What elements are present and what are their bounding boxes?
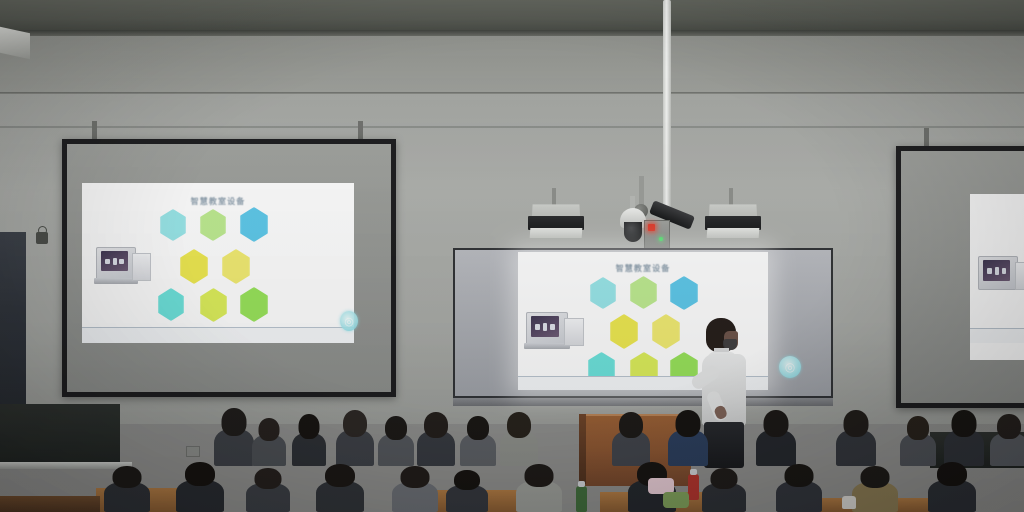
audience-person — [836, 408, 876, 466]
audience-person-head — [861, 466, 890, 488]
audience-person-head — [325, 464, 355, 487]
audience-person-head — [385, 416, 407, 440]
water-bottle — [688, 474, 699, 500]
audience-person — [516, 462, 562, 512]
audience-person-head — [259, 418, 280, 441]
audience-person — [500, 410, 538, 466]
audience-person — [702, 466, 746, 512]
audience-person — [668, 408, 708, 466]
audience-person-head — [255, 468, 282, 489]
audience-person — [316, 462, 364, 512]
audience-person-head — [222, 408, 247, 436]
audience-person-head — [676, 410, 701, 437]
audience-person — [176, 460, 224, 512]
bottle-cap — [690, 469, 697, 475]
audience-person — [417, 410, 455, 466]
audience-person-head — [997, 414, 1021, 439]
audience-person-head — [424, 412, 448, 438]
audience-person — [378, 414, 414, 466]
audience-person-head — [764, 410, 789, 437]
audience-person-head — [467, 416, 489, 440]
audience-person-head — [711, 468, 738, 489]
audience-person — [900, 414, 936, 466]
audience-person — [990, 412, 1024, 466]
audience-person-head — [844, 410, 869, 437]
audience-person — [292, 412, 326, 466]
audience-person-head — [785, 464, 814, 487]
audience-person — [928, 460, 976, 512]
audience-person-head — [952, 410, 977, 437]
audience-person-head — [454, 470, 480, 490]
audience-person-head — [299, 414, 320, 439]
audience-person-head — [507, 412, 531, 438]
audience — [0, 0, 1024, 512]
audience-person-head — [343, 410, 367, 437]
audience-person — [214, 406, 254, 466]
bottle-cap — [578, 481, 585, 487]
cup — [842, 496, 856, 509]
audience-person — [776, 462, 822, 512]
audience-person — [460, 414, 496, 466]
audience-person — [104, 464, 150, 512]
audience-person-head — [401, 466, 430, 488]
audience-person — [392, 464, 438, 512]
audience-person-head — [185, 462, 215, 486]
audience-person-head — [907, 416, 929, 440]
audience-person — [944, 408, 984, 466]
audience-person-head — [937, 462, 967, 486]
audience-person — [852, 464, 898, 512]
water-bottle — [576, 486, 587, 512]
audience-person-head — [619, 412, 643, 438]
audience-person — [612, 410, 650, 466]
classroom-scene: 智慧教室设备 — [0, 0, 1024, 512]
bag — [663, 492, 689, 508]
audience-person — [246, 466, 290, 512]
audience-person — [336, 408, 374, 466]
audience-person — [252, 416, 286, 466]
audience-person — [446, 468, 488, 512]
audience-person — [756, 408, 796, 466]
audience-person-head — [525, 464, 554, 487]
audience-person-head — [113, 466, 142, 488]
